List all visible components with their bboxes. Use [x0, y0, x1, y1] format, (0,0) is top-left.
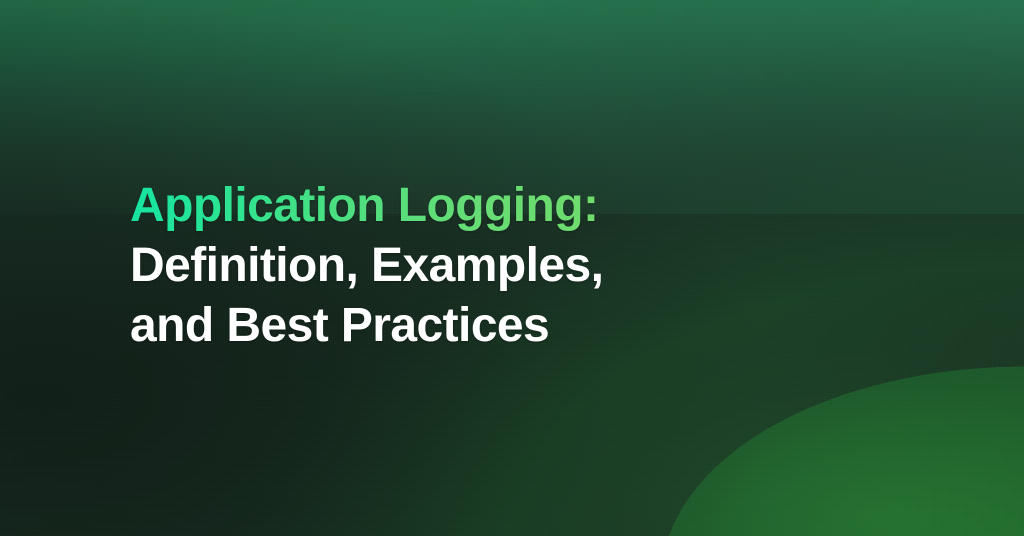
headline-block: Application Logging: Definition, Example…: [130, 176, 890, 356]
headline-line-1: Application Logging:: [130, 176, 598, 236]
headline-line-3: and Best Practices: [130, 296, 890, 356]
hero-card: Application Logging: Definition, Example…: [0, 0, 1024, 536]
headline-line-2: Definition, Examples,: [130, 236, 890, 296]
